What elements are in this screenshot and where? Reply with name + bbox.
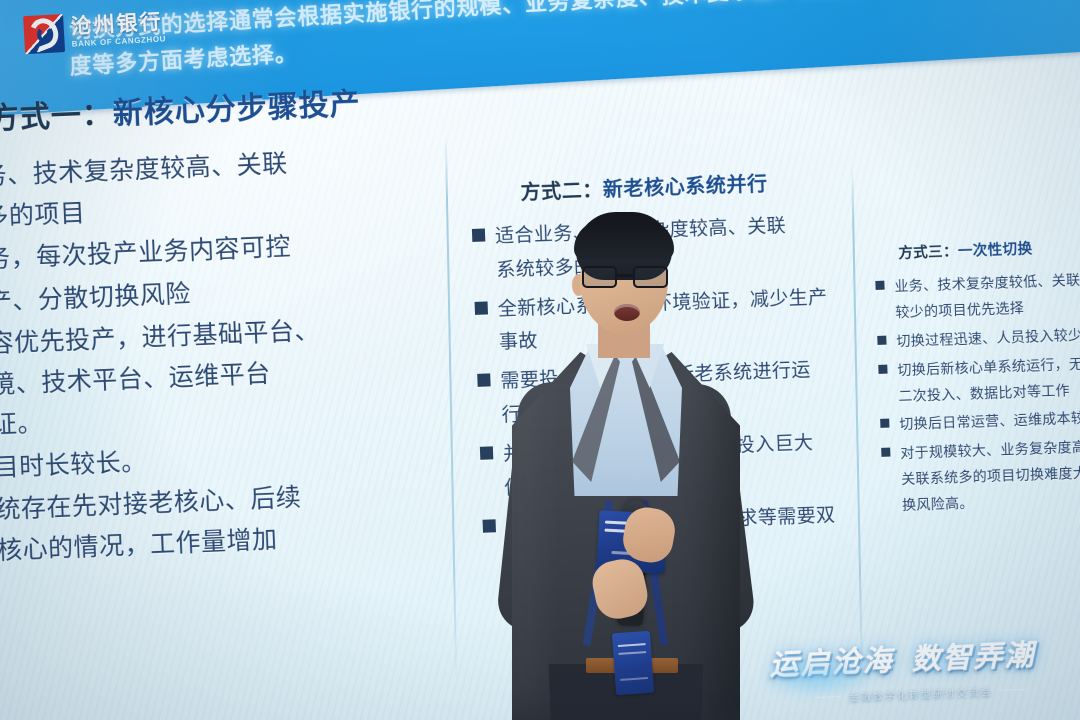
watermark-flare	[757, 656, 879, 703]
column-1-title: 方式一：新核心分步骤投产	[0, 79, 361, 138]
bullet-square-icon	[880, 419, 889, 428]
column-3-title: 方式三：一次性切换	[898, 235, 1080, 263]
list-item: 部分内容优先投产，进行基础平台、 硬件环境、技术平台、运维平台 生产验证。	[0, 309, 374, 450]
screenshot-root: 信创环境的切换方式 切换方式的选择通常会根据实施银行的规模、业务复杂度、技术复杂…	[0, 0, 1080, 720]
bullet-square-icon	[475, 301, 488, 314]
column-divider-2	[851, 165, 863, 670]
speaker-figure	[498, 212, 748, 720]
column-3-heading: 一次性切换	[958, 241, 1033, 260]
column-2-heading: 新老核心系统并行	[603, 173, 769, 201]
column-2-label: 方式二：	[520, 179, 603, 204]
column-2-title: 方式二：新老核心系统并行	[520, 165, 824, 205]
attendee-badge	[612, 631, 654, 695]
column-1-label: 方式一：	[0, 98, 114, 136]
bullet-square-icon	[472, 228, 485, 241]
bullet-text: 部分系统存在先对接老核心、后续 对接新核心的情况，工作量增加	[0, 478, 304, 575]
watermark-title-part-2: 数智弄潮	[911, 632, 1037, 679]
bullet-square-icon	[477, 374, 490, 387]
bullet-text: 切换后新核心单系统运行，无需 二次投入、数据比对等工作	[897, 351, 1080, 410]
list-item: 切换后新核心单系统运行，无需 二次投入、数据比对等工作	[878, 350, 1080, 410]
bullet-square-icon	[877, 335, 886, 344]
bullet-square-icon	[881, 448, 890, 457]
list-item: 部分系统存在先对接老核心、后续 对接新核心的情况，工作量增加	[0, 474, 379, 574]
bullet-square-icon	[875, 281, 884, 290]
bullet-text: 切换后日常运营、运维成本较低	[899, 406, 1080, 439]
speaker-mouth	[614, 304, 640, 321]
column-divider-1	[445, 135, 457, 680]
bullet-square-icon	[480, 446, 493, 459]
speaker-glasses-icon	[582, 266, 668, 288]
bullet-text: 适合业务、技术复杂度较高、关联 系统较多的项目	[0, 144, 290, 241]
list-item: 对于规模较大、业务复杂度高、 关联系统多的项目切换难度大、切 换风险高。	[881, 434, 1080, 520]
bullet-square-icon	[483, 519, 496, 532]
bullet-square-icon	[878, 364, 887, 373]
bullet-text: 部分内容优先投产，进行基础平台、 硬件环境、技术平台、运维平台 生产验证。	[0, 311, 324, 449]
bullet-text: 切换过程迅速、人员投入较少	[896, 323, 1080, 355]
list-item: 切换过程迅速、人员投入较少	[877, 322, 1080, 356]
column-3-label: 方式三：	[898, 244, 958, 262]
watermark-rule-right	[1001, 689, 1027, 691]
event-watermark: 运启沧海 数智弄潮 金融数字化转型研讨交流会	[769, 630, 1072, 717]
list-item: 业务、技术复杂度较低、关联系统 较少的项目优先选择	[875, 267, 1080, 327]
speaker-fringe	[574, 220, 674, 260]
bullet-text: 业务、技术复杂度较低、关联系统 较少的项目优先选择	[894, 267, 1080, 326]
slide-column-3: 方式三：一次性切换 业务、技术复杂度较低、关联系统 较少的项目优先选择 切换过程…	[874, 235, 1080, 523]
list-item: 切换后日常运营、运维成本较低	[880, 405, 1080, 439]
slide-column-1: 方式一：新核心分步骤投产 适合业务、技术复杂度较高、关联 系统较多的项目 拆分业…	[0, 79, 379, 577]
bullet-text: 对于规模较大、业务复杂度高、 关联系统多的项目切换难度大、切 换风险高。	[900, 434, 1080, 519]
column-1-heading: 新核心分步骤投产	[112, 88, 361, 131]
